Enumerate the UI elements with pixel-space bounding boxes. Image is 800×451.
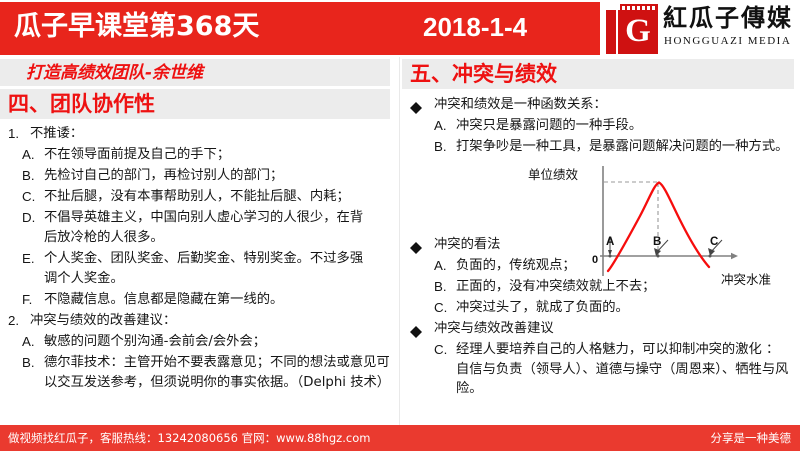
list-marker: 1.: [8, 124, 19, 144]
page-footer: 做视频找红瓜子，客服热线：13242080656 官网：www.88hgz.co…: [0, 425, 800, 451]
list-marker: A.: [22, 332, 35, 352]
chart-point-b: [657, 255, 660, 258]
diamond-bullet-icon: [410, 96, 422, 108]
list-marker: A.: [434, 116, 447, 136]
chart-point-c: [709, 255, 712, 258]
list-marker: A.: [22, 145, 35, 165]
list-text: 冲突与绩效的改善建议：: [30, 311, 388, 331]
slide-content: 打造高绩效团队-余世维 四、团队协作性 1. 不推诿： A. 不在领导面前提及自…: [0, 57, 800, 425]
list-text: 先检讨自己的部门，再检讨别人的部门；: [44, 166, 392, 186]
footer-slogan-text: 分享是一种美德: [711, 429, 792, 447]
list-marker: E.: [22, 249, 35, 269]
list-text: 经理人要培养自己的人格魅力，可以抑制冲突的激化 ：自信与负责（领导人）、道德与操…: [456, 340, 790, 399]
list-text: 冲突只是暴露问题的一种手段。: [456, 116, 792, 136]
list-item: 1. 不推诿：: [8, 124, 388, 144]
chart-y-axis-label: 单位绩效: [528, 164, 578, 183]
list-item: 2. 冲突与绩效的改善建议：: [8, 311, 388, 331]
page-header: 瓜子早课堂第368天 2018-1-4 G 紅瓜子傳媒 HONGGUAZI ME…: [0, 0, 800, 57]
diamond-bullet-icon: [410, 320, 422, 332]
list-text: 不隐藏信息。信息都是隐藏在第一线的。: [44, 290, 392, 310]
list-item: C. 不扯后腿，没有本事帮助别人，不能扯后腿、内耗；: [22, 187, 394, 207]
list-text: 德尔菲技术：主管开始不要表露意见；不同的想法或意见可以交互发送参考，但须说明你的…: [44, 353, 390, 392]
list-item: B. 德尔菲技术：主管开始不要表露意见；不同的想法或意见可以交互发送参考，但须说…: [22, 353, 390, 392]
page-title: 瓜子早课堂第368天: [14, 8, 259, 46]
list-text: 打架争吵是一种工具，是暴露问题解决问题的一种方式。: [456, 137, 792, 157]
right-column: 五、冲突与绩效 冲突和绩效是一种函数关系： A. 冲突只是暴露问题的一种手段。 …: [400, 57, 800, 425]
chart-point-label-a: A: [606, 236, 614, 248]
list-marker: C.: [22, 187, 35, 207]
footer-contact-text: 做视频找红瓜子，客服热线：13242080656 官网：www.88hgz.co…: [8, 429, 370, 447]
list-text: 个人奖金、团队奖金、后勤奖金、特别奖金。不过多强调个人奖金。: [44, 249, 372, 288]
list-item: C. 经理人要培养自己的人格魅力，可以抑制冲突的激化 ：自信与负责（领导人）、道…: [434, 340, 790, 399]
chart-point-a: [609, 255, 612, 258]
list-item: 冲突与绩效改善建议: [408, 319, 792, 339]
conflict-performance-chart: 单位绩效 0 A B C 冲突水准: [522, 164, 800, 284]
list-item: E. 个人奖金、团队奖金、后勤奖金、特别奖金。不过多强调个人奖金。: [22, 249, 372, 288]
list-item: A. 敏感的问题个别沟通-会前会/会外会；: [22, 332, 392, 352]
header-date: 2018-1-4: [423, 9, 527, 45]
list-text: 冲突和绩效是一种函数关系：: [434, 95, 792, 115]
chart-point-label-b: B: [653, 236, 661, 248]
diamond-bullet-icon: [410, 236, 422, 248]
course-subtitle: 打造高绩效团队-余世维: [26, 61, 203, 85]
list-item: F. 不隐藏信息。信息都是隐藏在第一线的。: [22, 290, 392, 310]
list-item: B. 先检讨自己的部门，再检讨别人的部门；: [22, 166, 392, 186]
list-item: B. 打架争吵是一种工具，是暴露问题解决问题的一种方式。: [434, 137, 792, 157]
logo-spine: [606, 10, 618, 54]
list-item: 冲突和绩效是一种函数关系：: [408, 95, 792, 115]
list-item: C. 冲突过头了，就成了负面的。: [434, 298, 664, 318]
chart-origin-label: 0: [592, 254, 598, 266]
list-marker: 2.: [8, 311, 19, 331]
list-text: 不推诿：: [30, 124, 388, 144]
list-item: A. 冲突只是暴露问题的一种手段。: [434, 116, 792, 136]
brand-logo: G 紅瓜子傳媒 HONGGUAZI MEDIA: [601, 0, 800, 57]
list-marker: B.: [434, 277, 447, 297]
list-text: 不扯后腿，没有本事帮助别人，不能扯后腿、内耗；: [44, 187, 394, 207]
list-text: 冲突与绩效改善建议: [434, 319, 792, 339]
left-column: 打造高绩效团队-余世维 四、团队协作性 1. 不推诿： A. 不在领导面前提及自…: [0, 57, 400, 425]
list-item: A. 不在领导面前提及自己的手下；: [22, 145, 392, 165]
chart-point-label-c: C: [710, 236, 718, 248]
list-marker: D.: [22, 208, 35, 228]
list-marker: F.: [22, 290, 32, 310]
right-section-heading: 五、冲突与绩效: [410, 60, 557, 88]
list-marker: B.: [22, 166, 35, 186]
chart-x-axis-label: 冲突水准: [721, 269, 771, 288]
list-marker: B.: [22, 353, 35, 373]
list-marker: A.: [434, 256, 447, 276]
list-item: D. 不倡导英雄主义，中国向别人虚心学习的人很少，在背后放冷枪的人很多。: [22, 208, 372, 247]
logo-mark-icon: G: [606, 3, 658, 54]
list-text: 不在领导面前提及自己的手下；: [44, 145, 392, 165]
logo-name-cn: 紅瓜子傳媒: [663, 3, 793, 33]
list-text: 敏感的问题个别沟通-会前会/会外会；: [44, 332, 392, 352]
list-marker: C.: [434, 340, 447, 360]
list-text: 冲突过头了，就成了负面的。: [456, 298, 664, 318]
list-text: 不倡导英雄主义，中国向别人虚心学习的人很少，在背后放冷枪的人很多。: [44, 208, 372, 247]
list-marker: C.: [434, 298, 447, 318]
chart-x-axis-arrowhead: [731, 253, 738, 259]
list-marker: B.: [434, 137, 447, 157]
left-section-heading: 四、团队协作性: [8, 90, 155, 118]
logo-letter-g: G: [622, 15, 654, 49]
logo-name-en: HONGGUAZI MEDIA: [664, 35, 791, 47]
